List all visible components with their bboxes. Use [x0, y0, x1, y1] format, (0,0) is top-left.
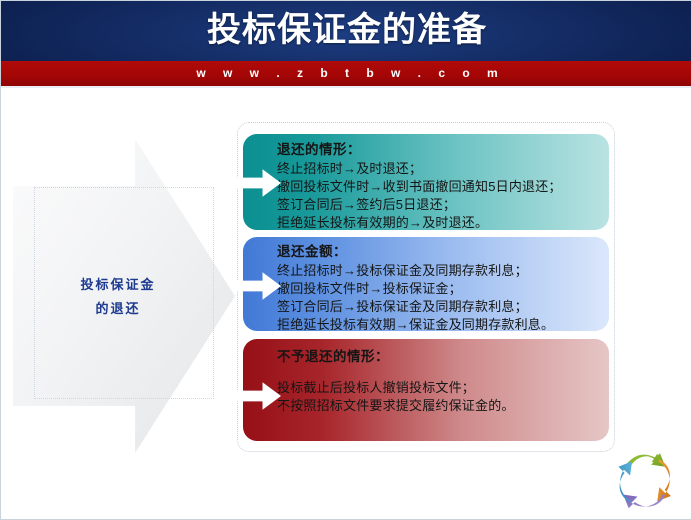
info-box-line: 投标截止后投标人撤销投标文件； [277, 379, 601, 397]
header-divider [1, 86, 692, 88]
info-box-line: 撤回投标文件时→收到书面撤回通知5日内退还； [277, 178, 601, 196]
left-arrow-label-line1: 投标保证金 [23, 273, 213, 297]
website-url-text: w w w . z b t b w . c o m [1, 61, 692, 86]
info-box-refund-amount: 退还金额： 终止招标时→投标保证金及同期存款利息； 撤回投标文件时→投标保证金；… [243, 237, 609, 331]
info-box-content: 退还的情形： 终止招标时→及时退还； 撤回投标文件时→收到书面撤回通知5日内退还… [277, 141, 601, 232]
info-box-line: 终止招标时→投标保证金及同期存款利息； [277, 262, 601, 280]
recycle-arrows-logo [607, 447, 683, 515]
left-arrow-label-line2: 的退还 [23, 297, 213, 321]
info-box-title: 不予退还的情形： [277, 348, 601, 366]
info-box-line: 签订合同后→投标保证金及同期存款利息； [277, 298, 601, 316]
slide-canvas: 投标保证金的准备 w w w . z b t b w . c o m 投标保证金… [0, 0, 692, 520]
info-box-content: 不予退还的情形： 投标截止后投标人撤销投标文件； 不按照招标文件要求提交履约保证… [277, 348, 601, 415]
slide-header: 投标保证金的准备 [1, 1, 692, 61]
info-box-content: 退还金额： 终止招标时→投标保证金及同期存款利息； 撤回投标文件时→投标保证金；… [277, 243, 601, 334]
info-box-line: 签订合同后→签约后5日退还； [277, 196, 601, 214]
info-box-line: 拒绝延长投标有效期→保证金及同期存款利息。 [277, 316, 601, 334]
info-box-spacer [277, 367, 601, 379]
info-box-line: 不按照招标文件要求提交履约保证金的。 [277, 397, 601, 415]
logo-center-star [630, 467, 660, 496]
info-box-line: 拒绝延长投标有效期的→及时退还。 [277, 214, 601, 232]
info-box-line: 撤回投标文件时→投标保证金； [277, 280, 601, 298]
website-band: w w w . z b t b w . c o m [1, 61, 692, 86]
page-title: 投标保证金的准备 [1, 7, 692, 55]
left-arrow-label: 投标保证金 的退还 [23, 273, 213, 321]
info-box-line: 终止招标时→及时退还； [277, 160, 601, 178]
info-box-refund-cases: 退还的情形： 终止招标时→及时退还； 撤回投标文件时→收到书面撤回通知5日内退还… [243, 134, 609, 230]
info-box-title: 退还金额： [277, 243, 601, 261]
info-box-no-refund-cases: 不予退还的情形： 投标截止后投标人撤销投标文件； 不按照招标文件要求提交履约保证… [243, 339, 609, 441]
info-box-title: 退还的情形： [277, 141, 601, 159]
